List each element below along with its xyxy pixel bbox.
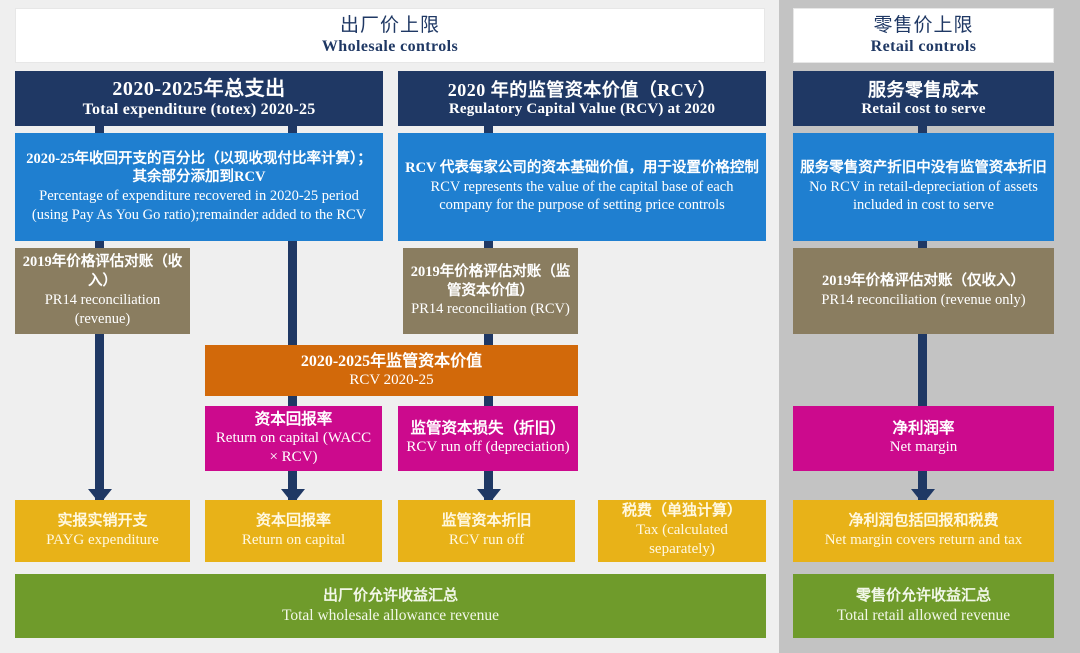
box-pr14-revenue-en: PR14 reconciliation (revenue)	[20, 291, 185, 329]
box-total-wholesale-allowance-zh: 出厂价允许收益汇总	[323, 588, 458, 605]
box-pr14-revenue: 2019年价格评估对账（收入） PR14 reconciliation (rev…	[15, 248, 190, 334]
box-pr14-revenue-zh: 2019年价格评估对账（收入）	[20, 253, 185, 291]
box-retail-cost-to-serve-en: Retail cost to serve	[861, 101, 985, 118]
box-pr14-rcv-en: PR14 reconciliation (RCV)	[411, 300, 570, 319]
retail-header-zh: 零售价上限	[873, 15, 973, 36]
box-retail-cost-to-serve: 服务零售成本 Retail cost to serve	[793, 71, 1054, 126]
box-total-retail-allowed-en: Total retail allowed revenue	[837, 607, 1010, 624]
box-output-return-on-capital: 资本回报率 Return on capital	[205, 500, 382, 562]
box-output-net-margin-covers: 净利润包括回报和税费 Net margin covers return and …	[793, 500, 1054, 562]
wholesale-header: 出厂价上限 Wholesale controls	[15, 8, 765, 63]
box-rcv-runoff-depreciation: 监管资本损失（折旧） RCV run off (depreciation)	[398, 406, 578, 471]
box-totex-description-en: Percentage of expenditure recovered in 2…	[20, 187, 378, 224]
box-retail-cost-to-serve-zh: 服务零售成本	[868, 80, 979, 100]
box-retail-cost-description-zh: 服务零售资产折旧中没有监管资本折旧	[800, 159, 1047, 178]
box-net-margin: 净利润率 Net margin	[793, 406, 1054, 471]
box-totex-description-zh: 2020-25年收回开支的百分比（以现收现付比率计算）；其余部分添加到RCV	[20, 150, 378, 187]
box-return-on-capital-wacc-en: Return on capital (WACC × RCV)	[210, 429, 377, 467]
box-rcv-2020-25-zh: 2020-2025年监管资本价值	[301, 353, 482, 371]
box-output-net-margin-covers-en: Net margin covers return and tax	[825, 531, 1023, 550]
box-output-tax: 税费（单独计算） Tax (calculated separately)	[598, 500, 766, 562]
box-pr14-revenue-only-en: PR14 reconciliation (revenue only)	[821, 291, 1025, 310]
box-rcv-runoff-depreciation-en: RCV run off (depreciation)	[406, 438, 569, 457]
box-pr14-revenue-only: 2019年价格评估对账（仅收入） PR14 reconciliation (re…	[793, 248, 1054, 334]
box-totex-description: 2020-25年收回开支的百分比（以现收现付比率计算）；其余部分添加到RCV P…	[15, 133, 383, 241]
box-rcv-description-zh: RCV 代表每家公司的资本基础价值，用于设置价格控制	[405, 159, 759, 178]
box-rcv-at-2020-zh: 2020 年的监管资本价值（RCV）	[448, 80, 717, 100]
box-pr14-revenue-only-zh: 2019年价格评估对账（仅收入）	[822, 272, 1025, 291]
box-total-wholesale-allowance-en: Total wholesale allowance revenue	[282, 607, 499, 624]
box-total-expenditure-en: Total expenditure (totex) 2020-25	[83, 101, 316, 119]
box-total-retail-allowed-zh: 零售价允许收益汇总	[856, 588, 991, 605]
box-output-return-on-capital-zh: 资本回报率	[256, 513, 331, 530]
box-output-tax-en: Tax (calculated separately)	[603, 521, 761, 559]
box-pr14-rcv-zh: 2019年价格评估对账（监管资本价值）	[408, 263, 573, 301]
box-retail-cost-description: 服务零售资产折旧中没有监管资本折旧 No RCV in retail-depre…	[793, 133, 1054, 241]
box-total-expenditure-zh: 2020-2025年总支出	[112, 78, 285, 100]
retail-header-en: Retail controls	[871, 38, 977, 56]
box-return-on-capital-wacc: 资本回报率 Return on capital (WACC × RCV)	[205, 406, 382, 471]
diagram-canvas: 出厂价上限 Wholesale controls 零售价上限 Retail co…	[0, 0, 1080, 653]
box-rcv-description-en: RCV represents the value of the capital …	[403, 178, 761, 215]
retail-header: 零售价上限 Retail controls	[793, 8, 1054, 63]
box-net-margin-en: Net margin	[890, 438, 958, 457]
box-rcv-runoff-depreciation-zh: 监管资本损失（折旧）	[410, 420, 565, 437]
box-rcv-2020-25-en: RCV 2020-25	[349, 372, 433, 389]
box-return-on-capital-wacc-zh: 资本回报率	[255, 411, 333, 428]
box-output-payg-expenditure-zh: 实报实销开支	[57, 513, 147, 530]
box-output-net-margin-covers-zh: 净利润包括回报和税费	[848, 513, 998, 530]
wholesale-header-en: Wholesale controls	[322, 38, 458, 56]
wholesale-header-zh: 出厂价上限	[340, 15, 440, 36]
box-output-rcv-run-off-en: RCV run off	[449, 531, 524, 550]
box-output-tax-zh: 税费（单独计算）	[622, 503, 742, 520]
box-rcv-at-2020: 2020 年的监管资本价值（RCV） Regulatory Capital Va…	[398, 71, 766, 126]
box-rcv-2020-25: 2020-2025年监管资本价值 RCV 2020-25	[205, 345, 578, 396]
box-output-return-on-capital-en: Return on capital	[242, 531, 345, 550]
box-output-payg-expenditure: 实报实销开支 PAYG expenditure	[15, 500, 190, 562]
box-total-expenditure: 2020-2025年总支出 Total expenditure (totex) …	[15, 71, 383, 126]
box-rcv-at-2020-en: Regulatory Capital Value (RCV) at 2020	[449, 101, 715, 118]
box-total-retail-allowed: 零售价允许收益汇总 Total retail allowed revenue	[793, 574, 1054, 638]
box-total-wholesale-allowance: 出厂价允许收益汇总 Total wholesale allowance reve…	[15, 574, 766, 638]
box-net-margin-zh: 净利润率	[892, 420, 954, 437]
box-output-payg-expenditure-en: PAYG expenditure	[46, 531, 159, 550]
box-retail-cost-description-en: No RCV in retail-depreciation of assets …	[798, 178, 1049, 215]
box-output-rcv-run-off: 监管资本折旧 RCV run off	[398, 500, 575, 562]
box-rcv-description: RCV 代表每家公司的资本基础价值，用于设置价格控制 RCV represent…	[398, 133, 766, 241]
box-output-rcv-run-off-zh: 监管资本折旧	[441, 513, 531, 530]
box-pr14-rcv: 2019年价格评估对账（监管资本价值） PR14 reconciliation …	[403, 248, 578, 334]
